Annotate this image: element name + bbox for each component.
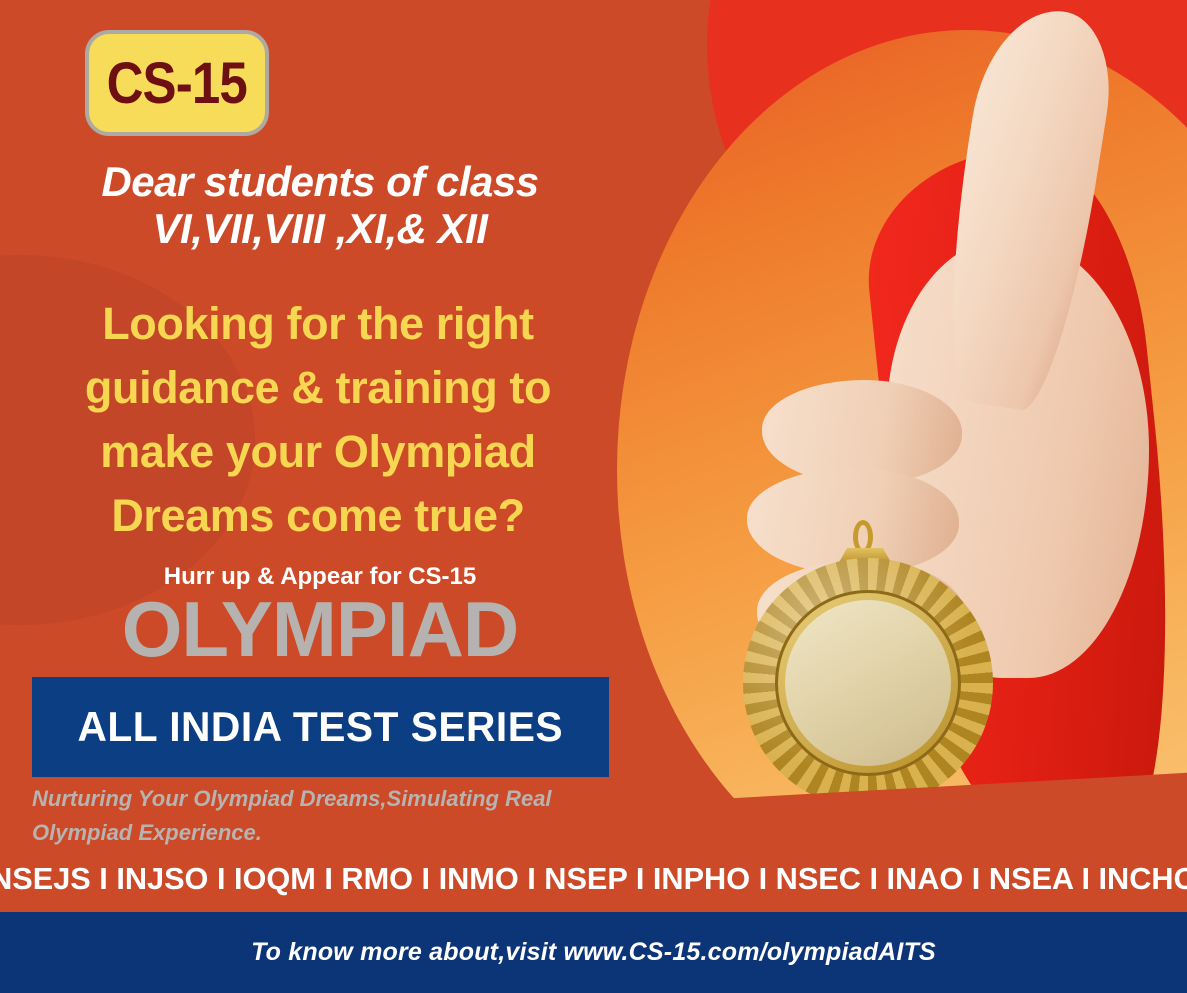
greeting-line-1: Dear students of class: [101, 158, 538, 205]
headline-line-4: Dreams come true?: [8, 484, 628, 548]
tagline-line-1: Nurturing Your Olympiad Dreams,Simulatin…: [32, 782, 692, 816]
headline-text: Looking for the right guidance & trainin…: [8, 292, 628, 548]
headline-line-2: guidance & training to: [8, 356, 628, 420]
hero-image-panel: [607, 0, 1187, 833]
all-india-test-series-label: ALL INDIA TEST SERIES: [78, 703, 564, 751]
greeting-text: Dear students of class VI,VII,VIII ,XI,&…: [0, 158, 640, 252]
exam-list-strip: NSEJS I INJSO I IOQM I RMO I INMO I NSEP…: [0, 845, 1187, 912]
olympiad-wordmark: OLYMPIAD: [0, 590, 640, 668]
cs15-badge-label: CS-15: [107, 50, 247, 117]
all-india-test-series-banner: ALL INDIA TEST SERIES: [32, 677, 609, 777]
footer-bar: To know more about,visit www.CS-15.com/o…: [0, 912, 1187, 993]
greeting-line-2: VI,VII,VIII ,XI,& XII: [0, 205, 640, 252]
gold-laurel-medal-icon: [737, 520, 997, 830]
footer-visit-text[interactable]: To know more about,visit www.CS-15.com/o…: [251, 938, 936, 967]
medal-face: [785, 600, 951, 766]
poster-content: CS-15 Dear students of class VI,VII,VIII…: [0, 0, 640, 833]
headline-line-3: make your Olympiad: [8, 420, 628, 484]
tagline-text: Nurturing Your Olympiad Dreams,Simulatin…: [32, 782, 692, 850]
headline-line-1: Looking for the right: [8, 292, 628, 356]
exam-list-text: NSEJS I INJSO I IOQM I RMO I INMO I NSEP…: [0, 861, 1187, 897]
promotional-poster: CS-15 Dear students of class VI,VII,VIII…: [0, 0, 1187, 993]
cs15-badge: CS-15: [85, 30, 269, 136]
